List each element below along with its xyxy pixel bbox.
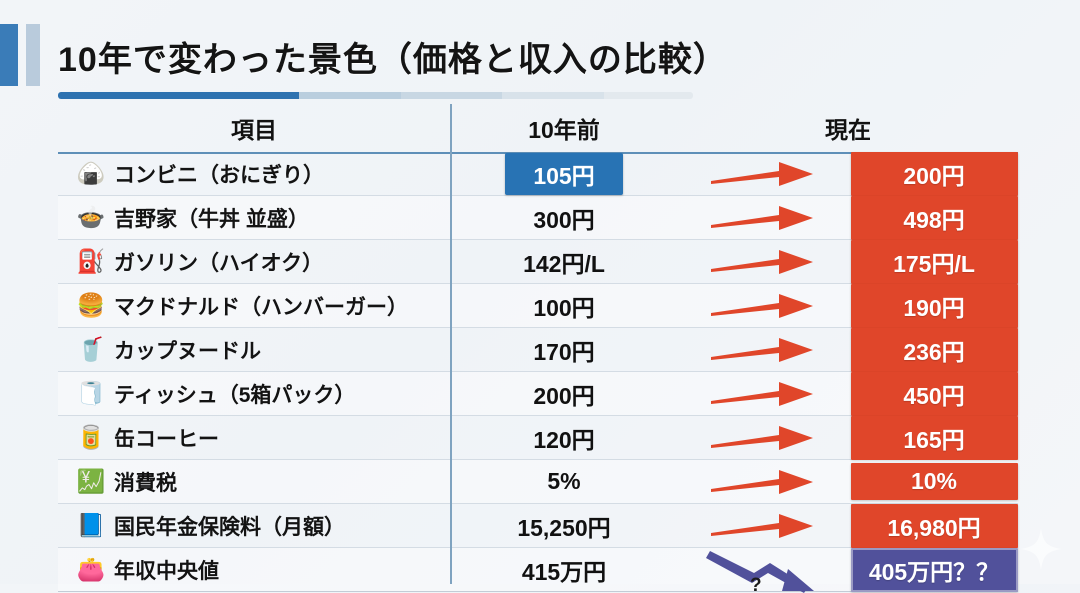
hamburger-icon: 🍔 xyxy=(74,291,108,321)
item-label: マクドナルド（ハンバーガー） xyxy=(114,291,408,321)
cell-arrow xyxy=(678,509,850,543)
item-label: 缶コーヒー xyxy=(114,423,219,453)
arrow-right-icon xyxy=(709,289,819,323)
item-label: 消費税 xyxy=(114,467,177,497)
header-accent-bar-dark xyxy=(0,24,18,86)
cell-new-value: 450円 xyxy=(850,372,1018,416)
onigiri-icon: 🍙 xyxy=(74,159,108,189)
arrow-right-icon xyxy=(709,333,819,367)
cell-arrow xyxy=(678,157,850,191)
pension-book-icon: 📘 xyxy=(74,511,108,541)
cell-new-value: 190円 xyxy=(850,284,1018,328)
canned-coffee-icon: 🥫 xyxy=(74,423,108,453)
tissue-box-icon: 🧻 xyxy=(74,379,108,409)
percent-coin-icon: 💹 xyxy=(74,467,108,497)
old-value: 300円 xyxy=(533,201,594,235)
cell-arrow: ? xyxy=(678,547,850,593)
cell-new-value: 16,980円 xyxy=(850,504,1018,548)
table-row: 💹 消費税 5% 10% xyxy=(58,460,1018,504)
cell-old-value: 105円 xyxy=(450,153,678,195)
item-label: ガソリン（ハイオク） xyxy=(114,247,323,277)
cell-arrow xyxy=(678,465,850,499)
old-value-highlighted: 105円 xyxy=(505,153,622,195)
header-gradient-rule xyxy=(58,92,693,99)
old-value: 170円 xyxy=(533,333,594,367)
cell-arrow xyxy=(678,333,850,367)
old-value: 15,250円 xyxy=(517,509,610,543)
old-value: 200円 xyxy=(533,377,594,411)
cell-item: ⛽ ガソリン（ハイオク） xyxy=(58,247,450,277)
new-value-badge: 200円 xyxy=(851,152,1018,196)
table-header-row: 項目 10年前 現在 xyxy=(58,104,1018,152)
table-row: 🍲 吉野家（牛丼 並盛） 300円 498円 xyxy=(58,196,1018,240)
column-divider xyxy=(450,104,452,584)
table-row: 👛 年収中央値 415万円 ? 405万円？？ xyxy=(58,548,1018,592)
new-value-badge: 450円 xyxy=(851,372,1018,416)
old-value: 5% xyxy=(547,468,580,495)
cell-item: 💹 消費税 xyxy=(58,467,450,497)
cell-old-value: 170円 xyxy=(450,333,678,367)
column-header-item: 項目 xyxy=(58,111,450,145)
table-row: 🍔 マクドナルド（ハンバーガー） 100円 190円 xyxy=(58,284,1018,328)
cell-item: 📘 国民年金保険料（月額） xyxy=(58,511,450,541)
cell-item: 🍲 吉野家（牛丼 並盛） xyxy=(58,203,450,233)
cell-old-value: 15,250円 xyxy=(450,509,678,543)
fuel-pump-icon: ⛽ xyxy=(74,247,108,277)
item-label: カップヌードル xyxy=(114,335,261,365)
old-value: 100円 xyxy=(533,289,594,323)
arrow-right-icon xyxy=(709,509,819,543)
item-label: 国民年金保険料（月額） xyxy=(114,511,345,541)
cell-new-value: 236円 xyxy=(850,328,1018,372)
new-value-badge: 405万円？？ xyxy=(851,548,1018,592)
cell-item: 🍙 コンビニ（おにぎり） xyxy=(58,159,450,189)
new-value-badge: 16,980円 xyxy=(851,504,1018,548)
arrow-right-icon xyxy=(709,157,819,191)
item-label: 吉野家（牛丼 並盛） xyxy=(114,203,309,233)
page-title: 10年で変わった景色（価格と収入の比較） xyxy=(58,32,728,81)
arrow-right-icon xyxy=(709,421,819,455)
cell-arrow xyxy=(678,377,850,411)
cell-new-value: 165円 xyxy=(850,416,1018,460)
cell-new-value: 498円 xyxy=(850,196,1018,240)
cell-item: 🥤 カップヌードル xyxy=(58,335,450,365)
new-value-badge: 236円 xyxy=(851,328,1018,372)
table-row: 📘 国民年金保険料（月額） 15,250円 16,980円 xyxy=(58,504,1018,548)
cell-arrow xyxy=(678,421,850,455)
arrow-right-icon xyxy=(709,245,819,279)
new-value-badge: 498円 xyxy=(851,196,1018,240)
arrow-down-icon: ? xyxy=(704,547,824,593)
old-value: 142円/L xyxy=(523,245,605,279)
arrow-right-icon xyxy=(709,201,819,235)
column-header-now: 現在 xyxy=(678,111,1018,145)
comparison-table: 項目 10年前 現在 🍙 コンビニ（おにぎり） 105円 200円 🍲 吉野家（… xyxy=(58,104,1018,592)
cell-old-value: 120円 xyxy=(450,421,678,455)
new-value-badge: 165円 xyxy=(851,416,1018,460)
table-row: 🍙 コンビニ（おにぎり） 105円 200円 xyxy=(58,152,1018,196)
cell-new-value: 175円/L xyxy=(850,240,1018,284)
new-value-badge: 175円/L xyxy=(851,240,1018,284)
cell-new-value: 10% xyxy=(850,463,1018,500)
new-value-badge: 190円 xyxy=(851,284,1018,328)
wallet-down-icon: 👛 xyxy=(74,555,108,585)
page-header: 10年で変わった景色（価格と収入の比較） xyxy=(0,18,1080,96)
cell-old-value: 100円 xyxy=(450,289,678,323)
arrow-right-icon xyxy=(709,377,819,411)
cup-noodle-icon: 🥤 xyxy=(74,335,108,365)
cell-arrow xyxy=(678,201,850,235)
cell-new-value: 200円 xyxy=(850,152,1018,196)
table-row: 🧻 ティッシュ（5箱パック） 200円 450円 xyxy=(58,372,1018,416)
table-row: 🥤 カップヌードル 170円 236円 xyxy=(58,328,1018,372)
item-label: 年収中央値 xyxy=(114,555,219,585)
old-value: 120円 xyxy=(533,421,594,455)
sparkle-icon xyxy=(1020,528,1062,570)
cell-old-value: 142円/L xyxy=(450,245,678,279)
cell-item: 🧻 ティッシュ（5箱パック） xyxy=(58,379,450,409)
item-label: ティッシュ（5箱パック） xyxy=(114,379,355,409)
cell-arrow xyxy=(678,289,850,323)
cell-item: 👛 年収中央値 xyxy=(58,555,450,585)
table-row: 🥫 缶コーヒー 120円 165円 xyxy=(58,416,1018,460)
item-label: コンビニ（おにぎり） xyxy=(114,159,324,189)
rice-bowl-icon: 🍲 xyxy=(74,203,108,233)
cell-new-value: 405万円？？ xyxy=(850,548,1018,592)
cell-item: 🍔 マクドナルド（ハンバーガー） xyxy=(58,291,450,321)
column-header-ten-years: 10年前 xyxy=(450,111,678,145)
cell-old-value: 415万円 xyxy=(450,553,678,587)
arrow-right-icon xyxy=(709,465,819,499)
old-value: 415万円 xyxy=(522,553,606,587)
table-body: 🍙 コンビニ（おにぎり） 105円 200円 🍲 吉野家（牛丼 並盛） 300円… xyxy=(58,152,1018,592)
cell-old-value: 200円 xyxy=(450,377,678,411)
cell-item: 🥫 缶コーヒー xyxy=(58,423,450,453)
new-value-badge: 10% xyxy=(851,463,1018,500)
table-row: ⛽ ガソリン（ハイオク） 142円/L 175円/L xyxy=(58,240,1018,284)
cell-old-value: 5% xyxy=(450,468,678,495)
cell-old-value: 300円 xyxy=(450,201,678,235)
header-accent-bar-light xyxy=(26,24,40,86)
cell-arrow xyxy=(678,245,850,279)
